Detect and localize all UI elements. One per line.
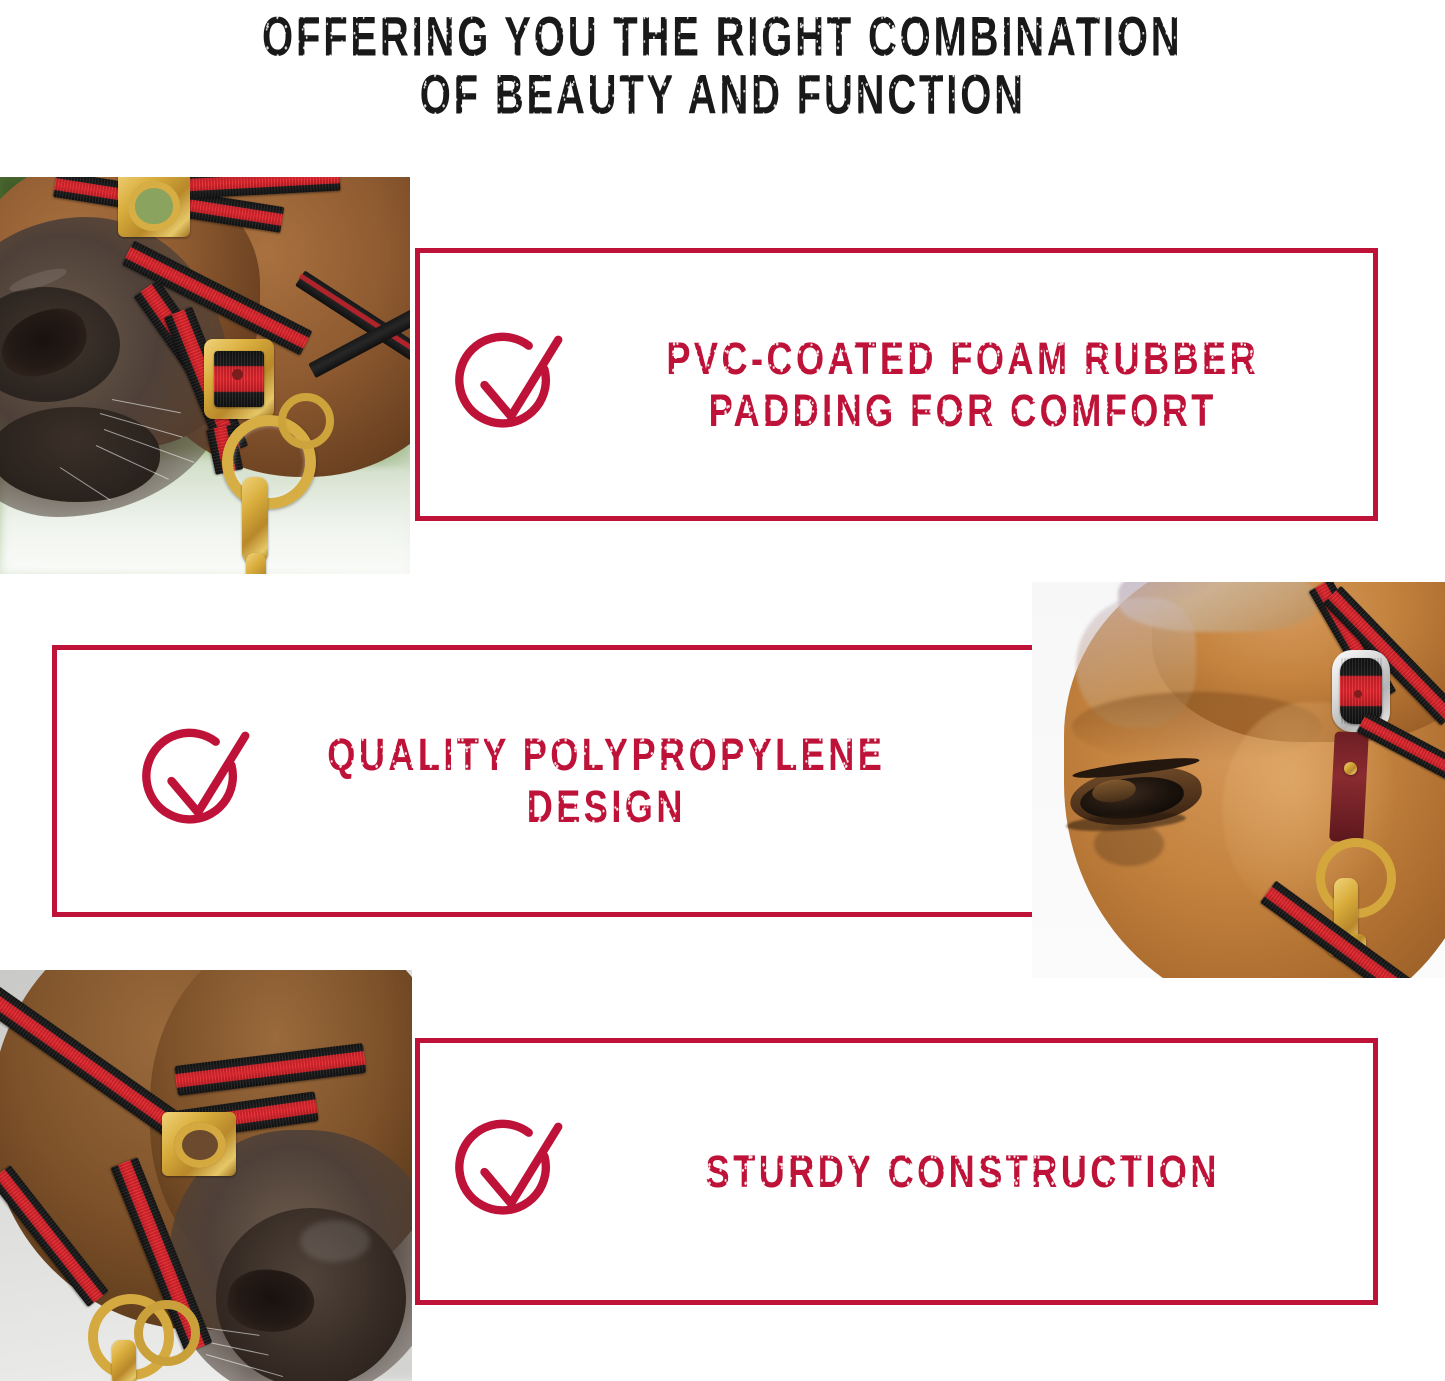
feature-1-line-2: PADDING FOR COMFORT [633,385,1293,437]
photo-horse-head-halter-white-background [1032,582,1445,978]
feature-2-line-2: DESIGN [318,781,894,833]
feature-box-1: PVC-COATED FOAM RUBBER PADDING FOR COMFO… [415,248,1378,521]
headline-line-2: OF BEAUTY AND FUNCTION [419,62,1025,127]
feature-box-3: STURDY CONSTRUCTION [415,1038,1378,1305]
feature-1-line-1: PVC-COATED FOAM RUBBER [633,333,1293,385]
circle-check-icon-3 [448,1113,578,1231]
photo-horse-noseband-halter-grey-background [0,970,412,1381]
photo-horse-muzzle-halter-green-background [0,177,410,574]
feature-2-line-1: QUALITY POLYPROPYLENE [318,729,894,781]
feature-box-2: QUALITY POLYPROPYLENE DESIGN [52,645,1040,917]
feature-3-line-1: STURDY CONSTRUCTION [633,1146,1293,1198]
headline-block: OFFERING YOU THE RIGHT COMBINATION OF BE… [0,0,1445,160]
headline-line-1: OFFERING YOU THE RIGHT COMBINATION [262,4,1182,69]
circle-check-icon-2 [135,722,265,840]
circle-check-icon-1 [448,326,578,444]
